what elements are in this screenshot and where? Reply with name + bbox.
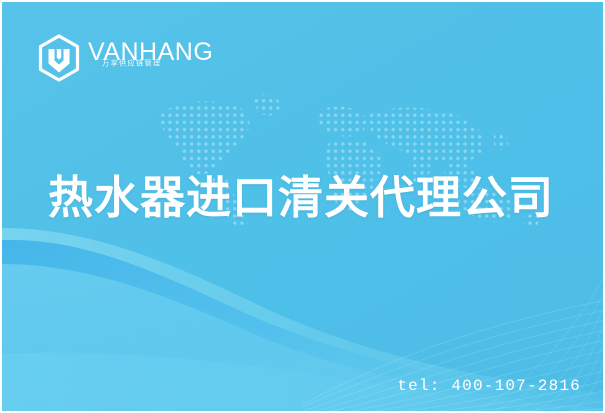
promo-banner: VANHANG 万享供应链管理 热水器进口清关代理公司 tel: 400-107… xyxy=(0,0,605,413)
brand-logo[interactable]: VANHANG 万享供应链管理 xyxy=(34,32,88,84)
contact-phone: tel: 400-107-2816 xyxy=(397,377,581,395)
brand-subtitle: 万享供应链管理 xyxy=(102,58,161,68)
page-title: 热水器进口清关代理公司 xyxy=(48,174,568,221)
hexagon-u-mark-icon xyxy=(34,33,84,83)
